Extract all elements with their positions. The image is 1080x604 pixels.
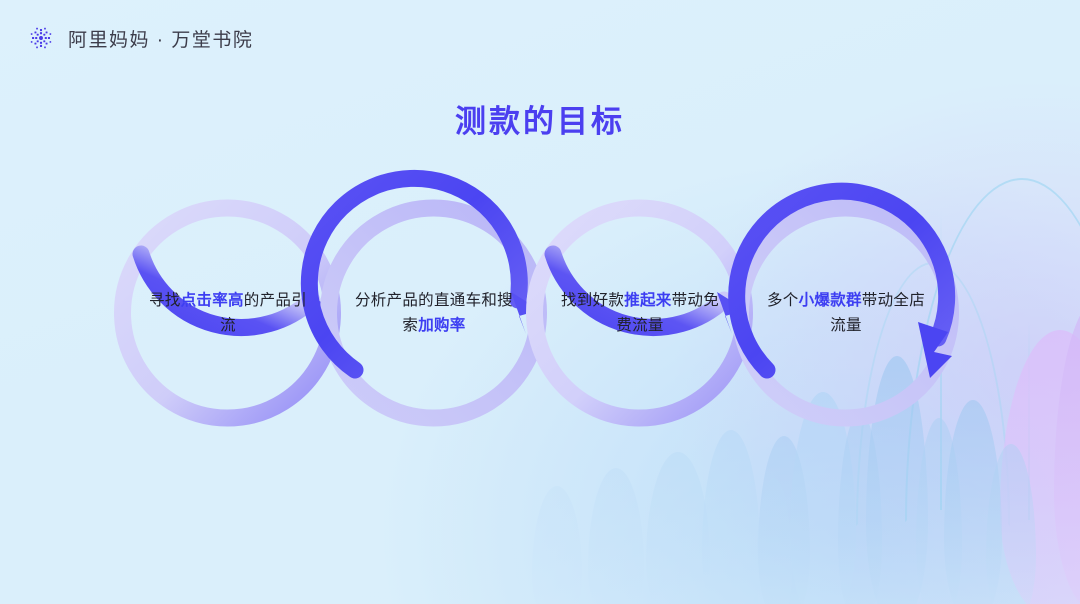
step-node-4[interactable]: 多个小爆款群带动全店流量 [738,205,954,421]
step-label-1: 寻找点击率高的产品引流 [142,288,314,338]
step-label-4: 多个小爆款群带动全店流量 [760,288,932,338]
step-4-highlight: 小爆款群 [799,292,862,309]
step-4-text-before: 多个 [767,292,799,309]
step-3-text-before: 找到好款 [561,292,624,309]
step-1-text-before: 寻找 [149,292,181,309]
step-node-3[interactable]: 找到好款推起来带动免费流量 [532,205,748,421]
step-label-3: 找到好款推起来带动免费流量 [554,288,726,338]
step-node-2[interactable]: 分析产品的直通车和搜索加购率 [326,205,542,421]
step-1-highlight: 点击率高 [181,292,244,309]
step-3-highlight: 推起来 [624,292,671,309]
step-2-highlight: 加购率 [418,317,465,334]
slide-canvas: 阿里妈妈 · 万堂书院 测款的目标 [0,0,1080,604]
step-node-1[interactable]: 寻找点击率高的产品引流 [120,205,336,421]
step-label-2: 分析产品的直通车和搜索加购率 [348,288,520,338]
